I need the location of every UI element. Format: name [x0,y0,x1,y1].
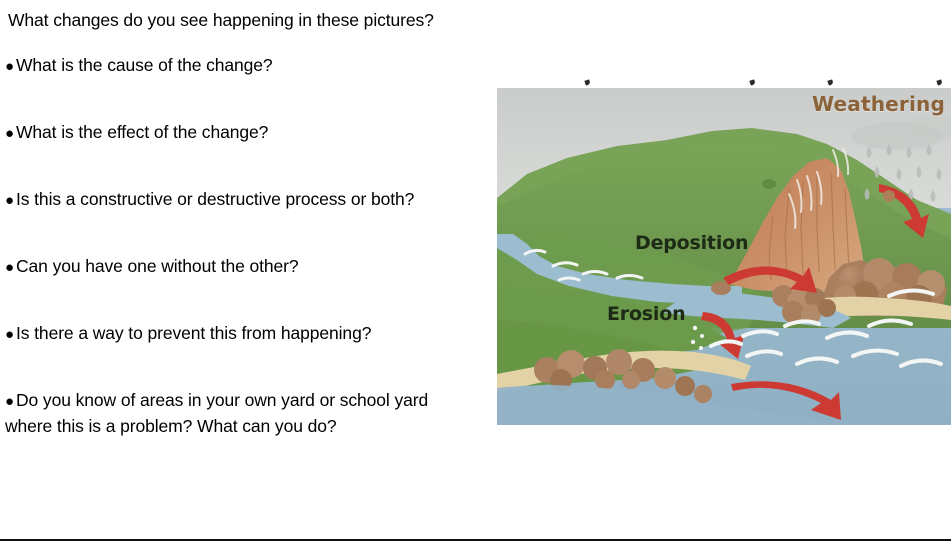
list-item: ●Do you know of areas in your own yard o… [5,388,475,438]
bullet-icon: ● [5,390,16,414]
erosion-diagram-image: Weathering Deposition Erosion [497,88,951,425]
list-item-label: What is the effect of the change? [16,122,268,142]
list-item-label: Can you have one without the other? [16,256,299,276]
erosion-diagram-svg [497,88,951,425]
list-item: ●What is the effect of the change? [5,120,475,146]
list-item-label: Is there a way to prevent this from happ… [16,323,371,343]
cliff-vegetation-patch [762,179,776,189]
list-item: ●Is this a constructive or destructive p… [5,187,475,213]
list-item: ●Is there a way to prevent this from hap… [5,321,475,347]
scan-artifact-mark [827,79,833,85]
scan-artifact-mark [749,79,755,85]
bottom-divider [0,539,951,541]
list-item: ●What is the cause of the change? [5,53,475,79]
bullet-icon: ● [5,189,16,213]
bullet-icon: ● [5,323,16,347]
list-item-label: What is the cause of the change? [16,55,273,75]
page-title: What changes do you see happening in the… [8,10,434,31]
slide-text-column: What changes do you see happening in the… [0,0,490,447]
bullet-icon: ● [5,55,16,79]
list-item-label: Do you know of areas in your own yard or… [5,390,428,436]
bullet-icon: ● [5,122,16,146]
list-item-label: Is this a constructive or destructive pr… [16,189,414,209]
bullet-icon: ● [5,256,16,280]
falling-rock [883,190,895,202]
scan-artifact-mark [936,79,942,85]
list-item: ●Can you have one without the other? [5,254,475,280]
scan-artifact-mark [584,79,590,85]
